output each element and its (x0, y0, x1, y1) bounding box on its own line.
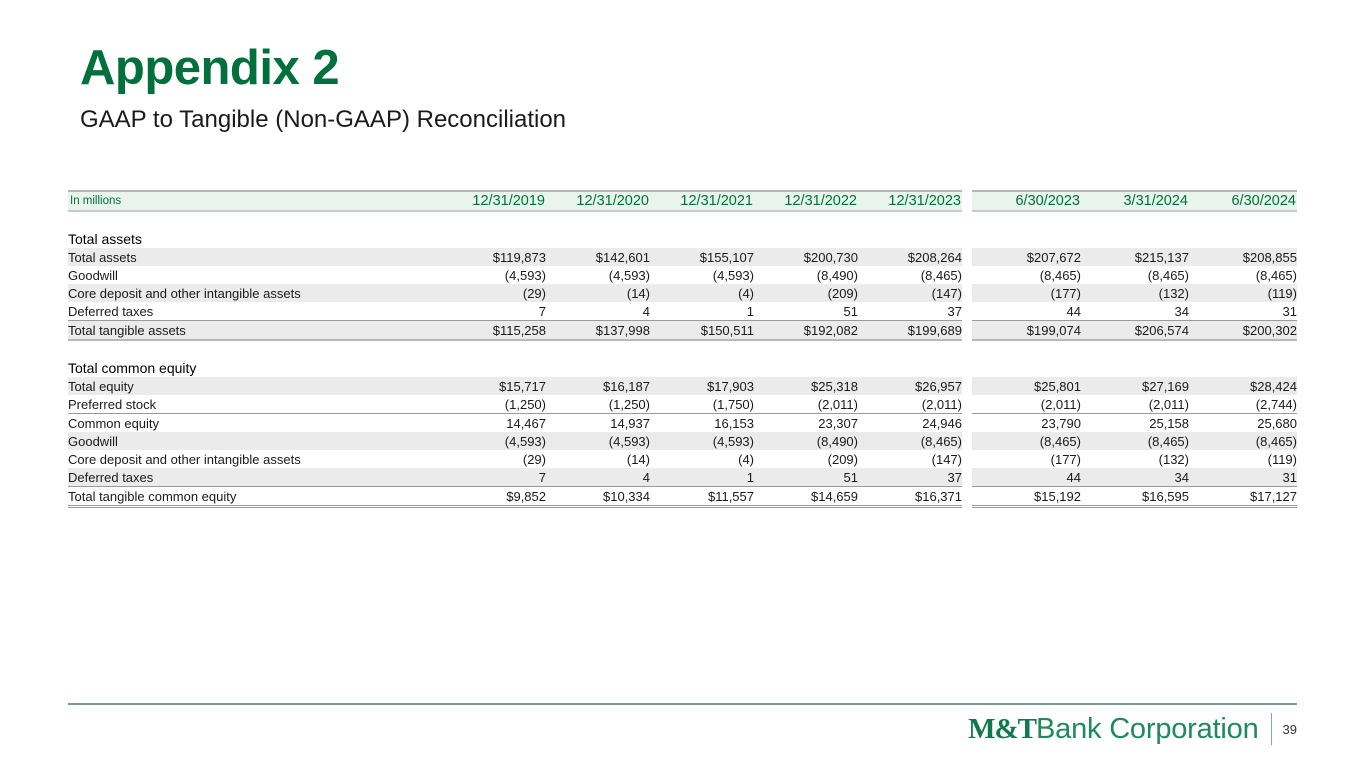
row-value-12/31/2021: (4,593) (650, 432, 754, 450)
page-subtitle: GAAP to Tangible (Non-GAAP) Reconciliati… (80, 106, 566, 135)
row-value-12/31/2019: (1,250) (442, 395, 546, 414)
row-value-12/31/2021: 16,153 (650, 414, 754, 433)
table-row: Core deposit and other intangible assets… (68, 450, 962, 468)
row-label: Common equity (68, 414, 442, 433)
section-title-row (972, 359, 1297, 377)
row-value-12/31/2023: (8,465) (858, 266, 962, 284)
section-title (972, 359, 1297, 377)
table-row: Deferred taxes7415137 (68, 302, 962, 321)
row-value-12/31/2020: 14,937 (546, 414, 650, 433)
page-title: Appendix 2 (80, 44, 339, 93)
row-value-12/31/2022: (2,011) (754, 395, 858, 414)
row-label: Total tangible assets (68, 321, 442, 341)
section-gap-cell (68, 340, 962, 359)
row-value-3/31/2024: (132) (1081, 284, 1189, 302)
section-title: Total common equity (68, 359, 962, 377)
row-value-12/31/2022: 51 (754, 468, 858, 487)
table-right: 6/30/20233/31/20246/30/2024$207,672$215,… (972, 190, 1297, 508)
table-row: (8,465)(8,465)(8,465) (972, 266, 1297, 284)
row-value-12/31/2020: (14) (546, 284, 650, 302)
row-value-6/30/2023: 23,790 (972, 414, 1081, 433)
row-value-6/30/2023: (177) (972, 284, 1081, 302)
brand-footer: M&TBank Corporation 39 (968, 712, 1297, 746)
row-label: Goodwill (68, 432, 442, 450)
table-row: Common equity14,46714,93716,15323,30724,… (68, 414, 962, 433)
row-label: Goodwill (68, 266, 442, 284)
row-value-12/31/2022: $25,318 (754, 377, 858, 395)
row-value-12/31/2022: 23,307 (754, 414, 858, 433)
row-value-12/31/2019: 7 (442, 302, 546, 321)
table-row: Total tangible assets$115,258$137,998$15… (68, 321, 962, 341)
table-row: 23,79025,15825,680 (972, 414, 1297, 433)
column-header-12/31/2020: 12/31/2020 (546, 191, 650, 211)
table-row: Preferred stock(1,250)(1,250)(1,750)(2,0… (68, 395, 962, 414)
column-header-12/31/2022: 12/31/2022 (754, 191, 858, 211)
row-value-3/31/2024: (8,465) (1081, 432, 1189, 450)
row-value-12/31/2023: $199,689 (858, 321, 962, 341)
row-value-12/31/2022: $14,659 (754, 487, 858, 507)
row-value-12/31/2022: 51 (754, 302, 858, 321)
table-row: 443431 (972, 468, 1297, 487)
row-value-12/31/2023: 24,946 (858, 414, 962, 433)
row-value-6/30/2024: $28,424 (1189, 377, 1297, 395)
row-value-6/30/2024: 31 (1189, 468, 1297, 487)
row-value-12/31/2019: 7 (442, 468, 546, 487)
unit-label: In millions (68, 191, 442, 211)
table-row: Deferred taxes7415137 (68, 468, 962, 487)
row-value-6/30/2024: 31 (1189, 302, 1297, 321)
table-row: Goodwill(4,593)(4,593)(4,593)(8,490)(8,4… (68, 266, 962, 284)
row-value-6/30/2023: (8,465) (972, 432, 1081, 450)
row-value-12/31/2022: (8,490) (754, 266, 858, 284)
row-value-3/31/2024: $215,137 (1081, 248, 1189, 266)
table-row: (2,011)(2,011)(2,744) (972, 395, 1297, 414)
row-value-3/31/2024: $27,169 (1081, 377, 1189, 395)
table-group-recent: 6/30/20233/31/20246/30/2024$207,672$215,… (972, 190, 1297, 508)
row-value-3/31/2024: 25,158 (1081, 414, 1189, 433)
table-left: In millions12/31/201912/31/202012/31/202… (68, 190, 962, 508)
row-value-12/31/2023: $208,264 (858, 248, 962, 266)
row-value-12/31/2023: 37 (858, 302, 962, 321)
row-value-12/31/2021: $155,107 (650, 248, 754, 266)
row-label: Total tangible common equity (68, 487, 442, 507)
row-label: Total assets (68, 248, 442, 266)
row-value-12/31/2021: (4) (650, 450, 754, 468)
row-value-12/31/2020: (4,593) (546, 266, 650, 284)
row-value-12/31/2019: (29) (442, 450, 546, 468)
section-gap-cell (972, 340, 1297, 359)
row-value-12/31/2021: $150,511 (650, 321, 754, 341)
row-value-3/31/2024: (8,465) (1081, 266, 1189, 284)
brand-rest-text: Bank Corporation (1036, 713, 1259, 745)
row-value-12/31/2023: $26,957 (858, 377, 962, 395)
section-gap-row (972, 340, 1297, 359)
row-value-6/30/2023: (2,011) (972, 395, 1081, 414)
table-row: (8,465)(8,465)(8,465) (972, 432, 1297, 450)
row-value-12/31/2022: (8,490) (754, 432, 858, 450)
row-value-12/31/2019: 14,467 (442, 414, 546, 433)
row-value-6/30/2024: 25,680 (1189, 414, 1297, 433)
row-value-12/31/2020: $142,601 (546, 248, 650, 266)
table-row: Total tangible common equity$9,852$10,33… (68, 487, 962, 507)
row-value-6/30/2024: (119) (1189, 284, 1297, 302)
table-left-body: In millions12/31/201912/31/202012/31/202… (68, 191, 962, 507)
row-value-12/31/2019: (4,593) (442, 432, 546, 450)
row-label: Core deposit and other intangible assets (68, 284, 442, 302)
row-value-12/31/2022: (209) (754, 450, 858, 468)
row-value-12/31/2021: 1 (650, 302, 754, 321)
row-value-12/31/2019: (29) (442, 284, 546, 302)
section-title: Total assets (68, 230, 962, 248)
row-value-6/30/2024: (8,465) (1189, 432, 1297, 450)
row-value-3/31/2024: $206,574 (1081, 321, 1189, 341)
row-value-6/30/2024: (8,465) (1189, 266, 1297, 284)
row-value-6/30/2023: $25,801 (972, 377, 1081, 395)
table-header-row: 6/30/20233/31/20246/30/2024 (972, 191, 1297, 211)
section-title-row: Total assets (68, 230, 962, 248)
spacer-row (972, 211, 1297, 230)
row-value-12/31/2021: (4) (650, 284, 754, 302)
row-value-12/31/2023: (2,011) (858, 395, 962, 414)
section-title (972, 230, 1297, 248)
table-row: Total equity$15,717$16,187$17,903$25,318… (68, 377, 962, 395)
footer-divider (68, 703, 1297, 705)
table-right-body: 6/30/20233/31/20246/30/2024$207,672$215,… (972, 191, 1297, 507)
spacer-cell (972, 211, 1297, 230)
brand-logo: M&TBank Corporation (968, 715, 1258, 744)
table-row: (177)(132)(119) (972, 284, 1297, 302)
table-row: Goodwill(4,593)(4,593)(4,593)(8,490)(8,4… (68, 432, 962, 450)
row-value-12/31/2019: $15,717 (442, 377, 546, 395)
row-value-12/31/2022: $192,082 (754, 321, 858, 341)
section-gap-row (68, 340, 962, 359)
table-row: $207,672$215,137$208,855 (972, 248, 1297, 266)
reconciliation-table: In millions12/31/201912/31/202012/31/202… (68, 190, 1297, 508)
row-value-12/31/2020: 4 (546, 468, 650, 487)
row-label: Total equity (68, 377, 442, 395)
row-value-3/31/2024: (2,011) (1081, 395, 1189, 414)
table-group-historical: In millions12/31/201912/31/202012/31/202… (68, 190, 962, 508)
row-value-12/31/2023: (8,465) (858, 432, 962, 450)
table-row: Total assets$119,873$142,601$155,107$200… (68, 248, 962, 266)
row-value-6/30/2024: $208,855 (1189, 248, 1297, 266)
row-value-12/31/2021: $17,903 (650, 377, 754, 395)
row-value-6/30/2023: 44 (972, 302, 1081, 321)
table-row: $199,074$206,574$200,302 (972, 321, 1297, 341)
brand-divider (1271, 713, 1272, 745)
row-value-12/31/2021: 1 (650, 468, 754, 487)
section-title-row: Total common equity (68, 359, 962, 377)
row-label: Core deposit and other intangible assets (68, 450, 442, 468)
table-row: (177)(132)(119) (972, 450, 1297, 468)
row-label: Preferred stock (68, 395, 442, 414)
row-value-12/31/2020: $16,187 (546, 377, 650, 395)
row-value-3/31/2024: $16,595 (1081, 487, 1189, 507)
row-value-6/30/2024: (2,744) (1189, 395, 1297, 414)
row-value-6/30/2023: $199,074 (972, 321, 1081, 341)
table-row: 443431 (972, 302, 1297, 321)
row-value-6/30/2023: 44 (972, 468, 1081, 487)
row-value-12/31/2020: $10,334 (546, 487, 650, 507)
table-row: $25,801$27,169$28,424 (972, 377, 1297, 395)
row-value-6/30/2023: (8,465) (972, 266, 1081, 284)
row-value-6/30/2024: $17,127 (1189, 487, 1297, 507)
column-header-12/31/2019: 12/31/2019 (442, 191, 546, 211)
row-value-6/30/2023: $207,672 (972, 248, 1081, 266)
row-value-12/31/2022: $200,730 (754, 248, 858, 266)
row-value-12/31/2021: $11,557 (650, 487, 754, 507)
spacer-row (68, 211, 962, 230)
row-value-6/30/2023: (177) (972, 450, 1081, 468)
row-value-12/31/2019: $119,873 (442, 248, 546, 266)
row-value-12/31/2019: (4,593) (442, 266, 546, 284)
column-header-6/30/2024: 6/30/2024 (1189, 191, 1297, 211)
row-value-3/31/2024: 34 (1081, 302, 1189, 321)
row-value-12/31/2019: $115,258 (442, 321, 546, 341)
row-value-12/31/2023: $16,371 (858, 487, 962, 507)
column-header-3/31/2024: 3/31/2024 (1081, 191, 1189, 211)
row-value-6/30/2024: (119) (1189, 450, 1297, 468)
column-header-12/31/2023: 12/31/2023 (858, 191, 962, 211)
row-value-6/30/2023: $15,192 (972, 487, 1081, 507)
row-value-12/31/2020: 4 (546, 302, 650, 321)
column-header-6/30/2023: 6/30/2023 (972, 191, 1081, 211)
row-value-12/31/2023: (147) (858, 284, 962, 302)
page-number: 39 (1283, 723, 1297, 736)
column-header-12/31/2021: 12/31/2021 (650, 191, 754, 211)
row-value-12/31/2021: (1,750) (650, 395, 754, 414)
row-value-3/31/2024: 34 (1081, 468, 1189, 487)
row-label: Deferred taxes (68, 468, 442, 487)
row-value-12/31/2020: (4,593) (546, 432, 650, 450)
row-value-3/31/2024: (132) (1081, 450, 1189, 468)
row-value-12/31/2023: (147) (858, 450, 962, 468)
row-value-12/31/2019: $9,852 (442, 487, 546, 507)
row-label: Deferred taxes (68, 302, 442, 321)
table-header-row: In millions12/31/201912/31/202012/31/202… (68, 191, 962, 211)
row-value-12/31/2020: (1,250) (546, 395, 650, 414)
row-value-12/31/2020: $137,998 (546, 321, 650, 341)
spacer-cell (68, 211, 962, 230)
row-value-6/30/2024: $200,302 (1189, 321, 1297, 341)
table-row: $15,192$16,595$17,127 (972, 487, 1297, 507)
row-value-12/31/2022: (209) (754, 284, 858, 302)
brand-mt-text: M&T (968, 713, 1036, 745)
row-value-12/31/2020: (14) (546, 450, 650, 468)
section-title-row (972, 230, 1297, 248)
table-row: Core deposit and other intangible assets… (68, 284, 962, 302)
row-value-12/31/2023: 37 (858, 468, 962, 487)
row-value-12/31/2021: (4,593) (650, 266, 754, 284)
